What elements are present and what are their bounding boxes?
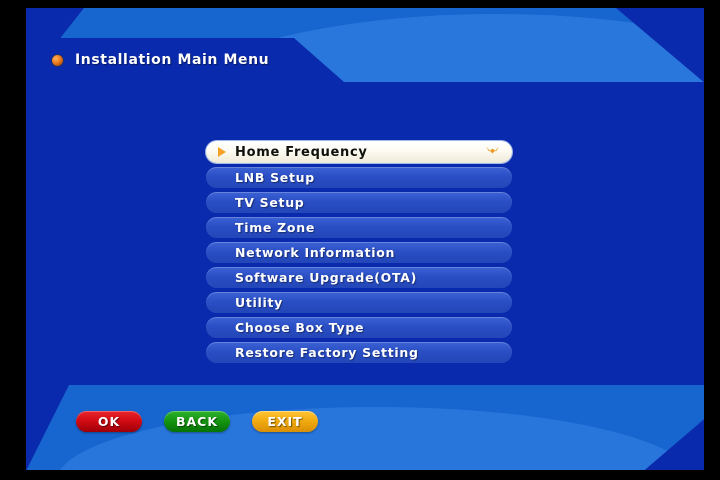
footer-band: OK BACK EXIT — [26, 385, 704, 470]
menu-item-label: Utility — [235, 295, 283, 310]
action-button-row: OK BACK EXIT — [76, 411, 318, 432]
menu-item-lnb-setup[interactable]: LNB Setup — [206, 167, 512, 188]
menu-item-restore-factory-setting[interactable]: Restore Factory Setting — [206, 342, 512, 363]
tv-screen-bezel: Installation Main Menu Home Frequency LN… — [0, 0, 720, 480]
osd-canvas: Installation Main Menu Home Frequency LN… — [26, 8, 704, 470]
back-button-label: BACK — [176, 414, 218, 429]
menu-item-utility[interactable]: Utility — [206, 292, 512, 313]
menu-item-label: Network Information — [235, 245, 395, 260]
menu-item-network-information[interactable]: Network Information — [206, 242, 512, 263]
page-title: Installation Main Menu — [75, 52, 269, 68]
menu-item-label: LNB Setup — [235, 170, 315, 185]
footer-left-corner-cut — [26, 385, 69, 470]
menu-item-software-upgrade-ota[interactable]: Software Upgrade(OTA) — [206, 267, 512, 288]
arrow-right-icon — [218, 147, 226, 157]
menu-item-choose-box-type[interactable]: Choose Box Type — [206, 317, 512, 338]
menu-item-label: Home Frequency — [235, 145, 368, 160]
page-title-row: Installation Main Menu — [26, 38, 506, 82]
menu-item-label: Restore Factory Setting — [235, 345, 419, 360]
menu-item-home-frequency[interactable]: Home Frequency — [206, 141, 512, 163]
menu-item-label: Time Zone — [235, 220, 315, 235]
menu-item-label: Software Upgrade(OTA) — [235, 270, 417, 285]
back-button[interactable]: BACK — [164, 411, 230, 432]
installation-menu-list: Home Frequency LNB Setup TV Setup Time Z… — [206, 141, 512, 367]
menu-item-time-zone[interactable]: Time Zone — [206, 217, 512, 238]
ok-button[interactable]: OK — [76, 411, 142, 432]
exit-button[interactable]: EXIT — [252, 411, 318, 432]
ok-button-label: OK — [98, 414, 120, 429]
bullet-dot-icon — [52, 55, 63, 66]
exit-button-label: EXIT — [267, 414, 302, 429]
menu-item-label: Choose Box Type — [235, 320, 364, 335]
menu-item-label: TV Setup — [235, 195, 304, 210]
menu-item-tv-setup[interactable]: TV Setup — [206, 192, 512, 213]
chevron-down-icon[interactable] — [485, 146, 500, 159]
